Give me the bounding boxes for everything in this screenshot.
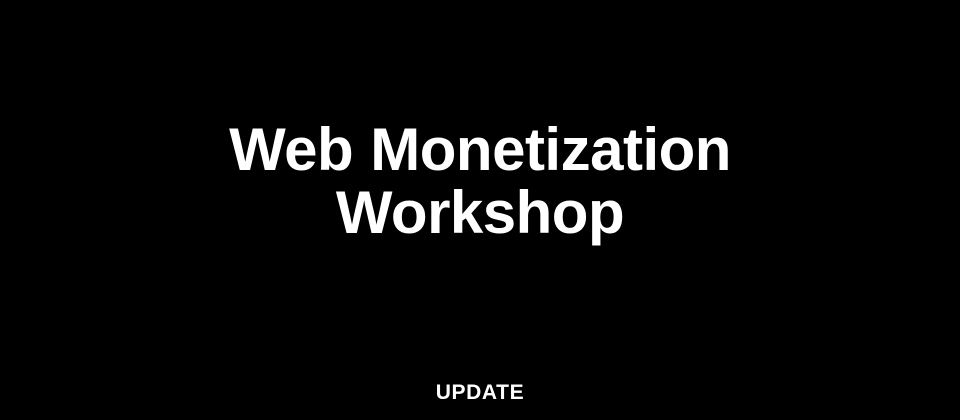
slide-footer-label: UPDATE — [436, 382, 524, 403]
slide-title: Web Monetization Workshop — [220, 118, 740, 244]
slide-title-block: Web Monetization Workshop — [0, 118, 960, 244]
presentation-slide: Web Monetization Workshop UPDATE — [0, 0, 960, 420]
slide-footer-block: UPDATE — [0, 382, 960, 403]
